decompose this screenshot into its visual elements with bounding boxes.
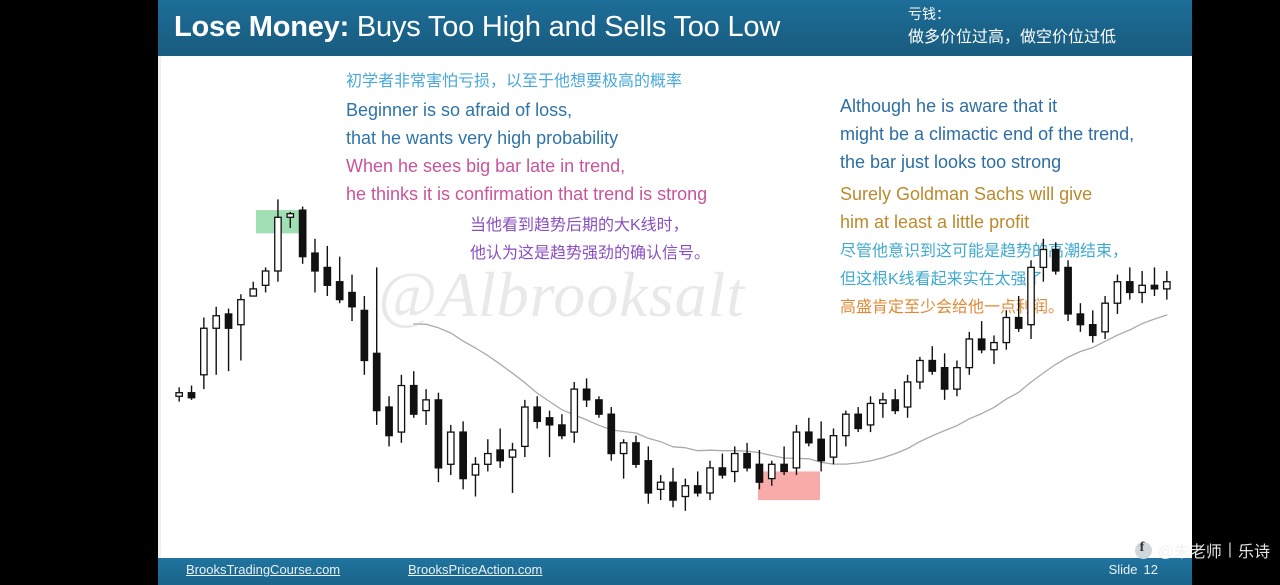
candlestick-bar (460, 421, 466, 489)
candlestick-bar (966, 332, 972, 375)
candlestick-bar (225, 309, 231, 372)
candlestick-bar (978, 321, 984, 353)
candlestick-bar (373, 267, 379, 425)
candlestick-bar (855, 407, 861, 432)
candlestick-bar (744, 443, 750, 472)
candlestick-bar (682, 479, 688, 511)
candlestick-bar (312, 239, 318, 293)
slide-root: Lose Money: Buys Too High and Sells Too … (0, 0, 1280, 585)
slide-header-bar: Lose Money: Buys Too High and Sells Too … (158, 0, 1192, 56)
candlestick-bar (1028, 260, 1034, 339)
candlestick-bar (176, 387, 182, 401)
candlestick-bar (448, 425, 454, 475)
candlestick-bar (262, 267, 268, 292)
sell-too-low-box (758, 471, 820, 500)
candlestick-bar (806, 418, 812, 447)
candlestick-bar (917, 357, 923, 389)
candlestick-bar (361, 296, 367, 375)
candlestick-bar (719, 454, 725, 479)
candlestick-bar (324, 246, 330, 296)
candlestick-bar (1015, 296, 1021, 332)
candlestick-bar (830, 429, 836, 465)
annotation-left-top-en-1: Beginner is so afraid of loss, (346, 96, 682, 124)
candlestick-bar (608, 407, 614, 461)
corner-watermark-name: 乐诗 (1238, 538, 1270, 562)
candlestick-bar (904, 375, 910, 418)
candlestick-bar (1053, 242, 1059, 274)
candlestick-bar (954, 360, 960, 396)
candlestick-bar (843, 411, 849, 447)
candlestick-chart (168, 150, 1178, 540)
candlestick-bar (571, 382, 577, 443)
candlestick-bar (818, 421, 824, 471)
header-cn-line2: 做多价位过高，做空价位过低 (908, 26, 1188, 50)
candlestick-bar (694, 471, 700, 496)
page-title: Lose Money: Buys Too High and Sells Too … (174, 6, 780, 48)
candlestick-bar (411, 371, 417, 418)
corner-watermark-handle: @朱老师 (1158, 538, 1222, 562)
candlestick-bar (213, 307, 219, 375)
slide-stage: Lose Money: Buys Too High and Sells Too … (158, 0, 1192, 585)
corner-watermark-separator: | (1228, 541, 1232, 559)
annotation-left-top: 初学者非常害怕亏损，以至于他想要极高的概率 Beginner is so afr… (346, 68, 682, 152)
candlestick-bar (929, 346, 935, 375)
candlestick-bar (522, 400, 528, 457)
candlestick-bar (1102, 296, 1108, 339)
candlestick-bar (1065, 260, 1071, 321)
candlestick-bar (596, 396, 602, 417)
candlestick-bar (1003, 310, 1009, 349)
candlestick-bar (546, 411, 552, 458)
facebook-icon (1135, 542, 1152, 559)
candlestick-bar (707, 461, 713, 500)
candlestick-chart-svg (168, 150, 1178, 540)
candlestick-bar (238, 294, 244, 360)
annotation-left-top-en-2: that he wants very high probability (346, 124, 682, 152)
candlestick-bar (472, 457, 478, 496)
candlestick-bar (1151, 267, 1157, 296)
header-cn-line1: 亏钱： (908, 2, 1188, 26)
candlestick-bar (509, 443, 515, 493)
candlestick-bar (1077, 303, 1083, 332)
candlestick-bar (892, 389, 898, 414)
candlestick-bar (435, 393, 441, 483)
candlestick-bar (299, 207, 305, 264)
page-title-rest: Buys Too High and Sells Too Low (349, 11, 780, 43)
candlestick-bar (793, 425, 799, 475)
candlestick-bar (1114, 275, 1120, 314)
candlestick-bar (485, 439, 491, 471)
candlestick-bar (1139, 271, 1145, 303)
footer-link-price-action[interactable]: BrooksPriceAction.com (408, 562, 542, 577)
candlestick-bar (645, 446, 651, 503)
candlestick-bar (991, 335, 997, 364)
slide-word: Slide (1109, 562, 1138, 577)
candlestick-bar (201, 318, 207, 390)
candlestick-bar (423, 389, 429, 425)
footer-link-trading-course[interactable]: BrooksTradingCourse.com (186, 562, 340, 577)
candlestick-bar (620, 439, 626, 478)
slide-number-label: Slide12 (1109, 562, 1158, 577)
candlestick-bar (1164, 271, 1170, 300)
candlestick-bar (657, 475, 663, 500)
candlestick-bar (386, 396, 392, 446)
corner-watermark: @朱老师 | 乐诗 (1135, 538, 1270, 562)
candlestick-bar (188, 386, 194, 400)
candlestick-bar (633, 436, 639, 468)
candlestick-bar (534, 396, 540, 428)
candlestick-bar (1040, 239, 1046, 282)
candlestick-bar (781, 446, 787, 475)
candlestick-bar (336, 257, 342, 304)
candlestick-bar (398, 375, 404, 443)
candlestick-bar (732, 446, 738, 482)
stage-left-edge (158, 0, 161, 585)
candlestick-bar (349, 275, 355, 322)
candlestick-bar (583, 378, 589, 407)
candlestick-bar (670, 468, 676, 507)
slide-footer-bar: BrooksTradingCourse.com BrooksPriceActio… (158, 558, 1192, 585)
candlestick-bar (497, 429, 503, 468)
candlestick-bar (880, 393, 886, 418)
candlestick-bar (1127, 267, 1133, 299)
header-chinese-subtitle: 亏钱： 做多价位过高，做空价位过低 (908, 2, 1188, 50)
annotation-left-top-cn: 初学者非常害怕亏损，以至于他想要极高的概率 (346, 68, 682, 96)
candlestick-bar (941, 353, 947, 400)
candlestick-bar (1090, 310, 1096, 342)
candlestick-bar (250, 282, 256, 296)
annotation-right-top-en-1: Although he is aware that it (840, 92, 1134, 120)
annotation-right-top-en-2: might be a climactic end of the trend, (840, 120, 1134, 148)
page-title-strong: Lose Money: (174, 11, 349, 43)
candlestick-bar (559, 414, 565, 439)
slide-number: 12 (1144, 562, 1158, 577)
candlestick-bar (867, 396, 873, 432)
